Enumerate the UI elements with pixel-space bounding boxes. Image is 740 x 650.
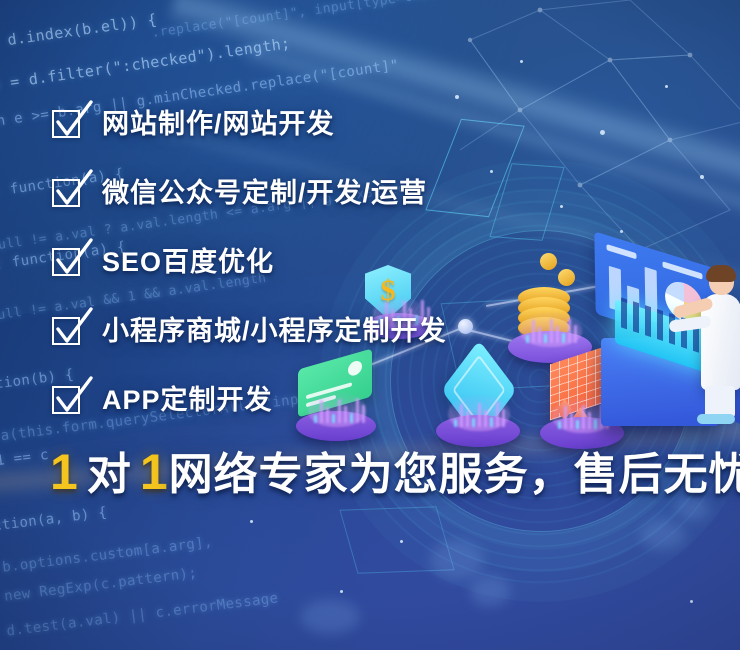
- checkbox-checked-icon[interactable]: [52, 384, 84, 416]
- code-line: n d.test(a.val) || c.errorMessage: [0, 590, 279, 641]
- service-item-miniprogram[interactable]: 小程序商城/小程序定制开发: [52, 303, 692, 359]
- particle-dot: [690, 600, 693, 603]
- figure-shoes: [697, 414, 735, 424]
- tech-arc-shape: [339, 506, 454, 573]
- checkbox-checked-icon[interactable]: [52, 246, 84, 278]
- service-label: APP定制开发: [102, 387, 273, 414]
- headline-middle-word: 对: [87, 450, 132, 499]
- code-line: e = d.filter(":checked").length;: [0, 34, 292, 94]
- headline-number-first: 1: [50, 444, 79, 500]
- service-label: 微信公众号定制/开发/运营: [102, 180, 427, 207]
- figure-hair: [706, 265, 736, 282]
- bokeh-decor: [640, 520, 686, 550]
- particle-dot: [700, 175, 704, 179]
- particle-dot: [400, 540, 403, 543]
- bokeh-decor: [470, 575, 510, 607]
- service-item-website[interactable]: 网站制作/网站开发: [52, 96, 692, 152]
- headline-tail: 网络专家为您服务，售后无忧！: [169, 450, 740, 499]
- checkbox-checked-icon[interactable]: [52, 315, 84, 347]
- bokeh-decor: [430, 540, 484, 580]
- code-line: 1 == c: [0, 447, 50, 469]
- analyst-figure: [691, 268, 740, 418]
- particle-dot: [340, 590, 343, 593]
- code-line: = b.options.custom[a.arg],: [0, 534, 214, 578]
- service-item-seo[interactable]: SEO百度优化: [52, 234, 692, 290]
- promo-banner: .replace("[count]", input[type=checkbox]…: [0, 0, 740, 650]
- headline-number-second: 1: [140, 444, 169, 500]
- checkbox-checked-icon[interactable]: [52, 177, 84, 209]
- code-line: = d.index(b.el)) {: [0, 10, 158, 51]
- service-label: 小程序商城/小程序定制开发: [102, 318, 447, 345]
- headline-slogan: 1对1网络专家为您服务，售后无忧！: [50, 447, 740, 497]
- code-line: nction(a, b) {: [0, 505, 108, 536]
- particle-dot: [665, 85, 668, 88]
- particle-dot: [250, 520, 253, 523]
- service-label: 网站制作/网站开发: [102, 111, 335, 138]
- particle-dot: [520, 60, 523, 63]
- bokeh-decor: [300, 600, 360, 634]
- checkbox-checked-icon[interactable]: [52, 108, 84, 140]
- service-list: 网站制作/网站开发 微信公众号定制/开发/运营 SEO百度优化 小程序商城/小程…: [52, 96, 692, 441]
- code-line: .replace("[count]", input[type=checkbox]…: [151, 0, 495, 41]
- service-label: SEO百度优化: [102, 249, 274, 276]
- service-item-app[interactable]: APP定制开发: [52, 372, 692, 428]
- code-line: = new RegExp(c.pattern);: [0, 565, 198, 607]
- service-item-wechat[interactable]: 微信公众号定制/开发/运营: [52, 165, 692, 221]
